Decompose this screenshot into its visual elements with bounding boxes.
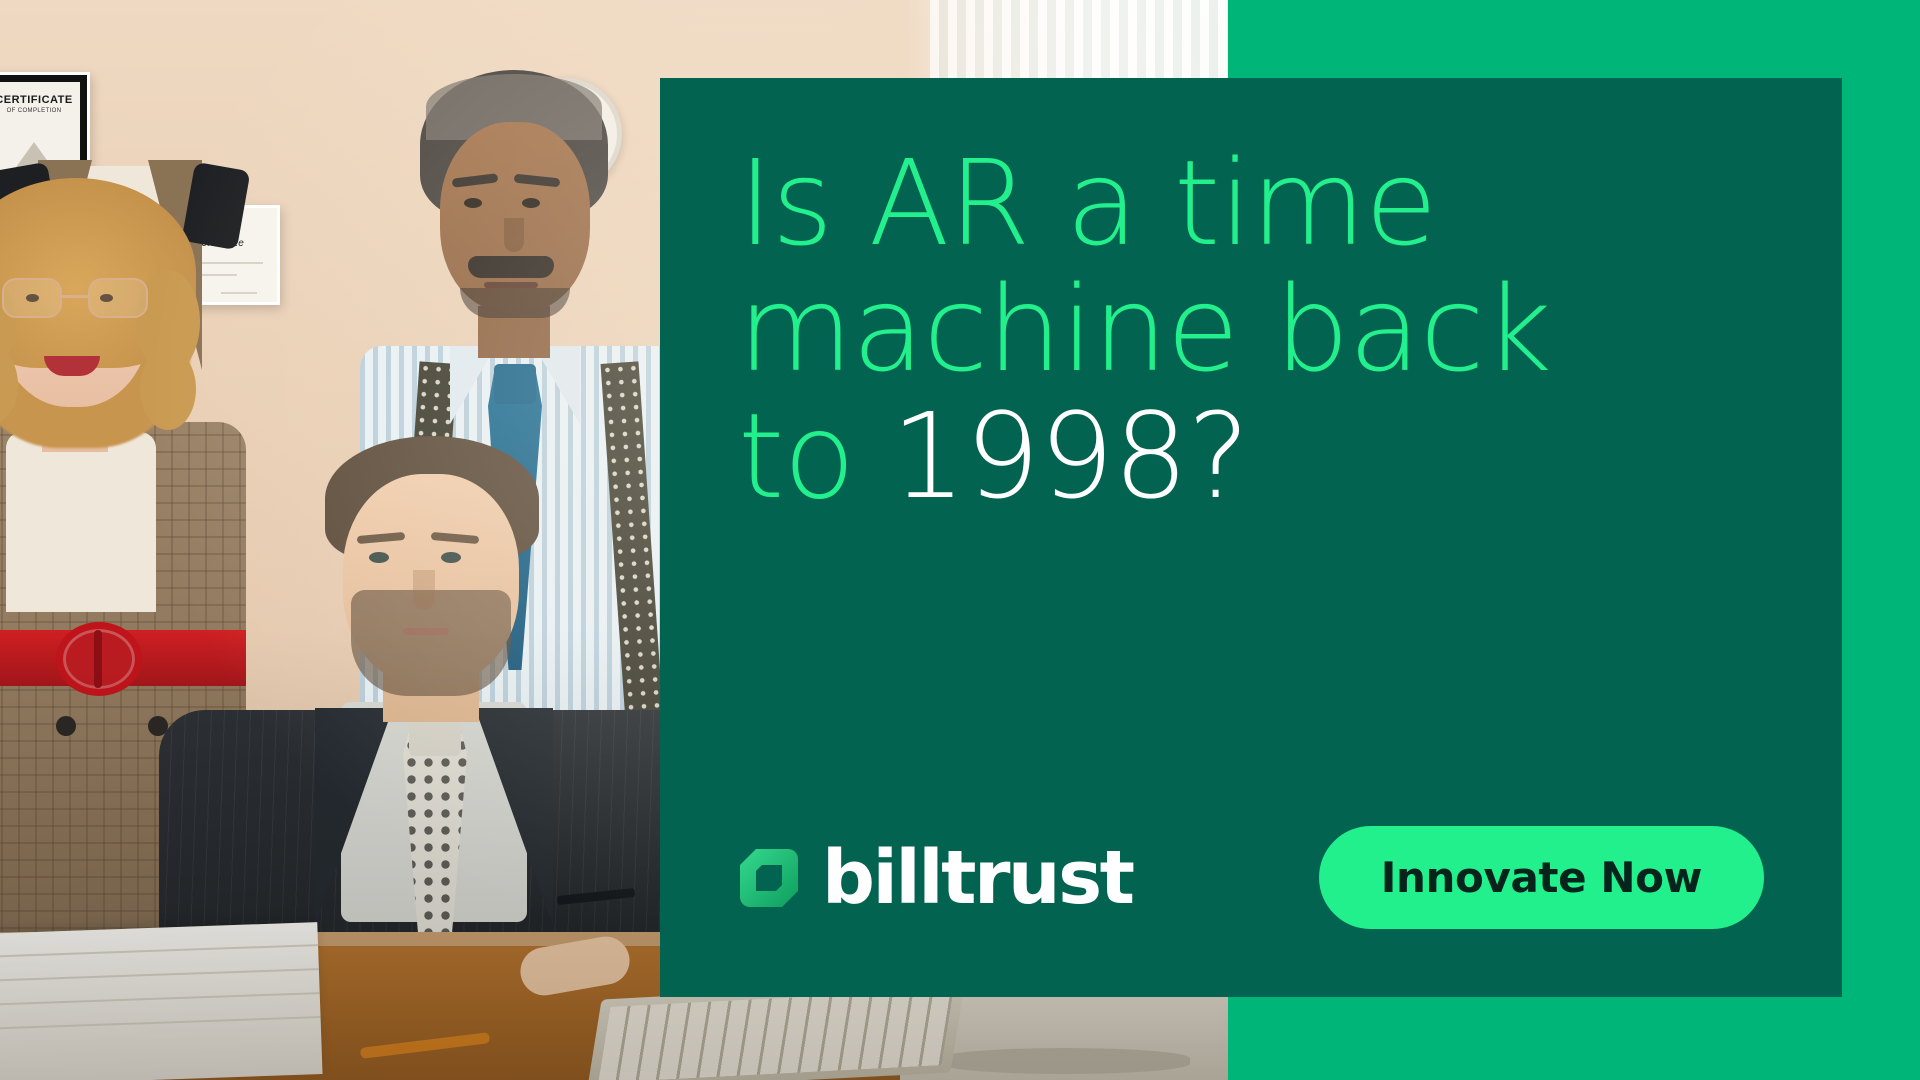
ad-canvas: CERTIFICATE OF COMPLETION BACHELOR OF LA… [0, 0, 1920, 1080]
certificate-subtitle: OF COMPLETION [0, 108, 80, 114]
billtrust-mark-icon [738, 847, 800, 909]
headline: Is AR a time machine back to 1998? [738, 140, 1718, 519]
content-panel: Is AR a time machine back to 1998? billt… [660, 78, 1842, 997]
headline-line-2: machine back [738, 260, 1551, 398]
headline-line-3-prefix: to [738, 387, 891, 525]
headline-line-1: Is AR a time [738, 134, 1436, 272]
billtrust-logo[interactable]: billtrust [738, 841, 1133, 915]
panel-footer: billtrust Innovate Now [738, 826, 1764, 929]
certificate-title: CERTIFICATE [0, 94, 80, 106]
paper-stack [0, 922, 323, 1080]
headline-line-3-accent: 1998? [891, 387, 1249, 525]
crt-monitor-base [940, 1048, 1190, 1074]
billtrust-wordmark: billtrust [822, 841, 1133, 915]
innovate-now-button[interactable]: Innovate Now [1319, 826, 1764, 929]
